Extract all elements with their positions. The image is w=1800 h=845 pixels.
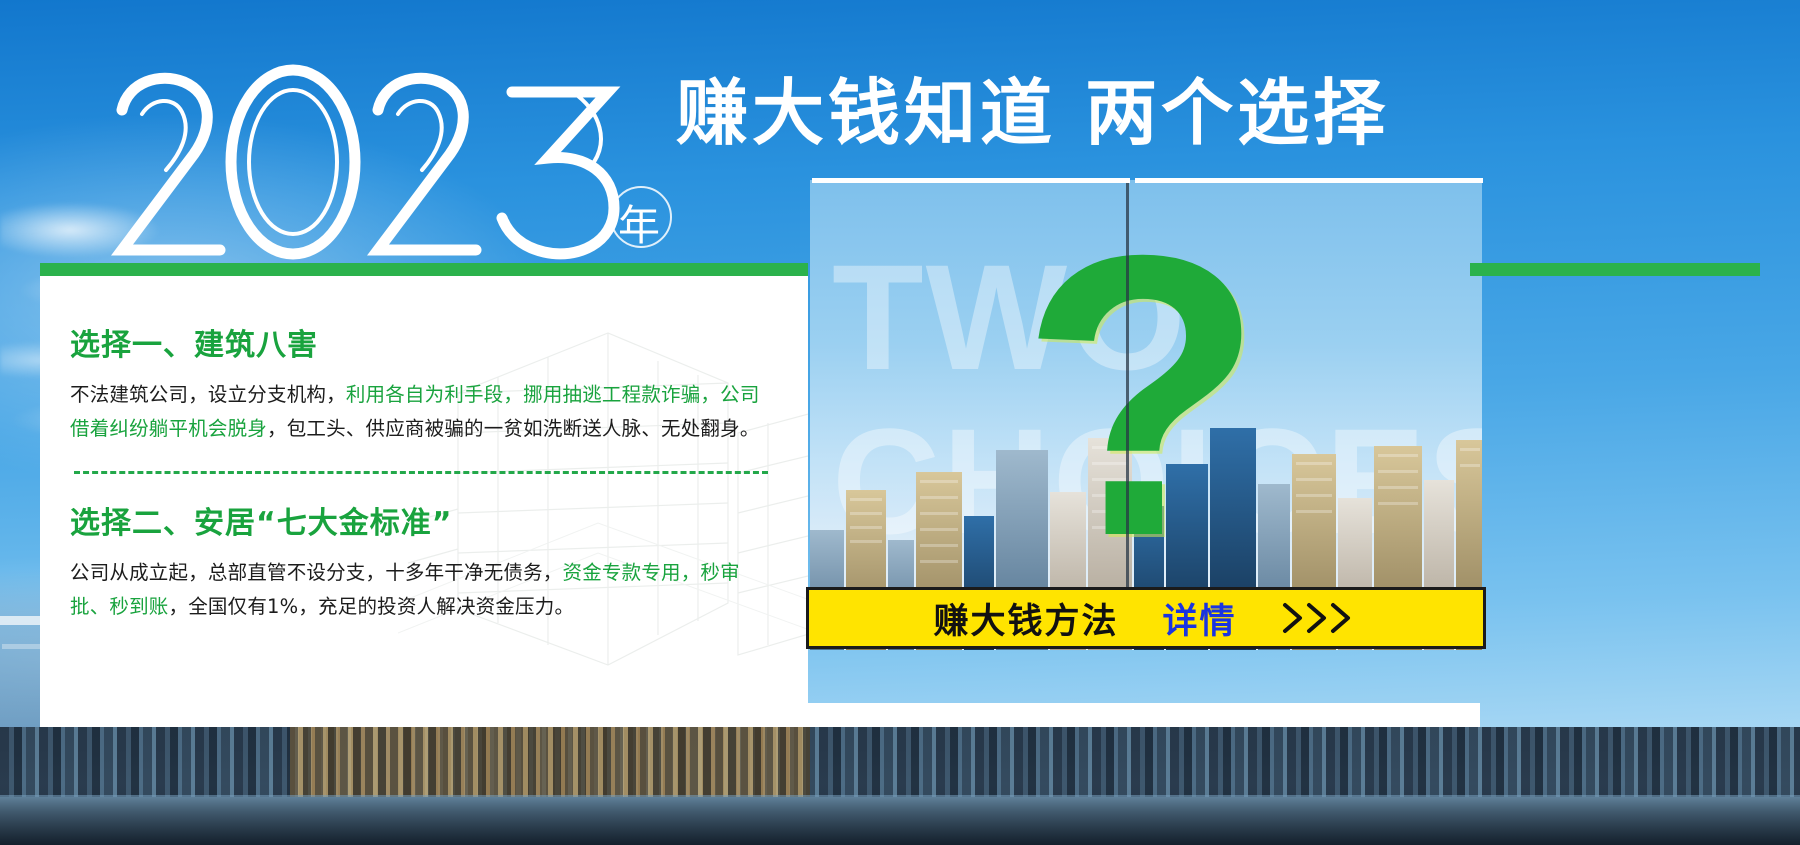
headline-rule-right xyxy=(1135,178,1483,183)
section-1-paragraph: 不法建筑公司，设立分支机构，利用各自为利手段，挪用抽逃工程款诈骗，公司借着纠纷躺… xyxy=(70,378,772,445)
section-2-text-c: ，全国仅有1%，充足的投资人解决资金压力。 xyxy=(169,595,575,618)
bottom-strip-warm-buildings xyxy=(290,727,810,797)
section-1-title: 选择一、建筑八害 xyxy=(70,320,772,364)
page-title: 赚大钱知道 两个选择 xyxy=(676,72,1389,155)
green-accent-bar-right xyxy=(1470,263,1760,276)
bottom-strip-buildings xyxy=(0,727,1800,797)
vertical-divider-line xyxy=(1126,178,1129,610)
chevron-right-icon xyxy=(1281,601,1359,635)
bottom-city-strip xyxy=(0,727,1800,845)
dashed-divider xyxy=(74,471,768,474)
headline-rule-left xyxy=(812,178,1130,183)
cta-label: 赚大钱方法 xyxy=(933,593,1118,644)
poster-canvas: 年 赚大钱知道 两个选择 TWO CHOICES xyxy=(0,0,1800,845)
content-card: 选择一、建筑八害 不法建筑公司，设立分支机构，利用各自为利手段，挪用抽逃工程款诈… xyxy=(40,263,808,715)
cta-detail-label: 详情 xyxy=(1163,593,1237,644)
section-2-paragraph: 公司从成立起，总部直管不设分支，十多年干净无债务，资金专款专用，秒审批、秒到账，… xyxy=(70,556,772,623)
cta-banner[interactable]: 赚大钱方法 详情 xyxy=(806,587,1486,649)
section-2-title: 选择二、安居“七大金标准” xyxy=(70,498,772,542)
bottom-strip-water xyxy=(0,795,1800,845)
section-1-text-c: ，包工头、供应商被骗的一贫如洗断送人脉、无处翻身。 xyxy=(267,417,760,440)
card-content: 选择一、建筑八害 不法建筑公司，设立分支机构，利用各自为利手段，挪用抽逃工程款诈… xyxy=(40,276,808,715)
section-1-text-a: 不法建筑公司，设立分支机构， xyxy=(70,383,346,406)
section-2-text-a: 公司从成立起，总部直管不设分支，十多年干净无债务， xyxy=(70,561,563,584)
year-suffix: 年 xyxy=(618,192,660,253)
question-mark-graphic: ? xyxy=(1020,196,1264,596)
